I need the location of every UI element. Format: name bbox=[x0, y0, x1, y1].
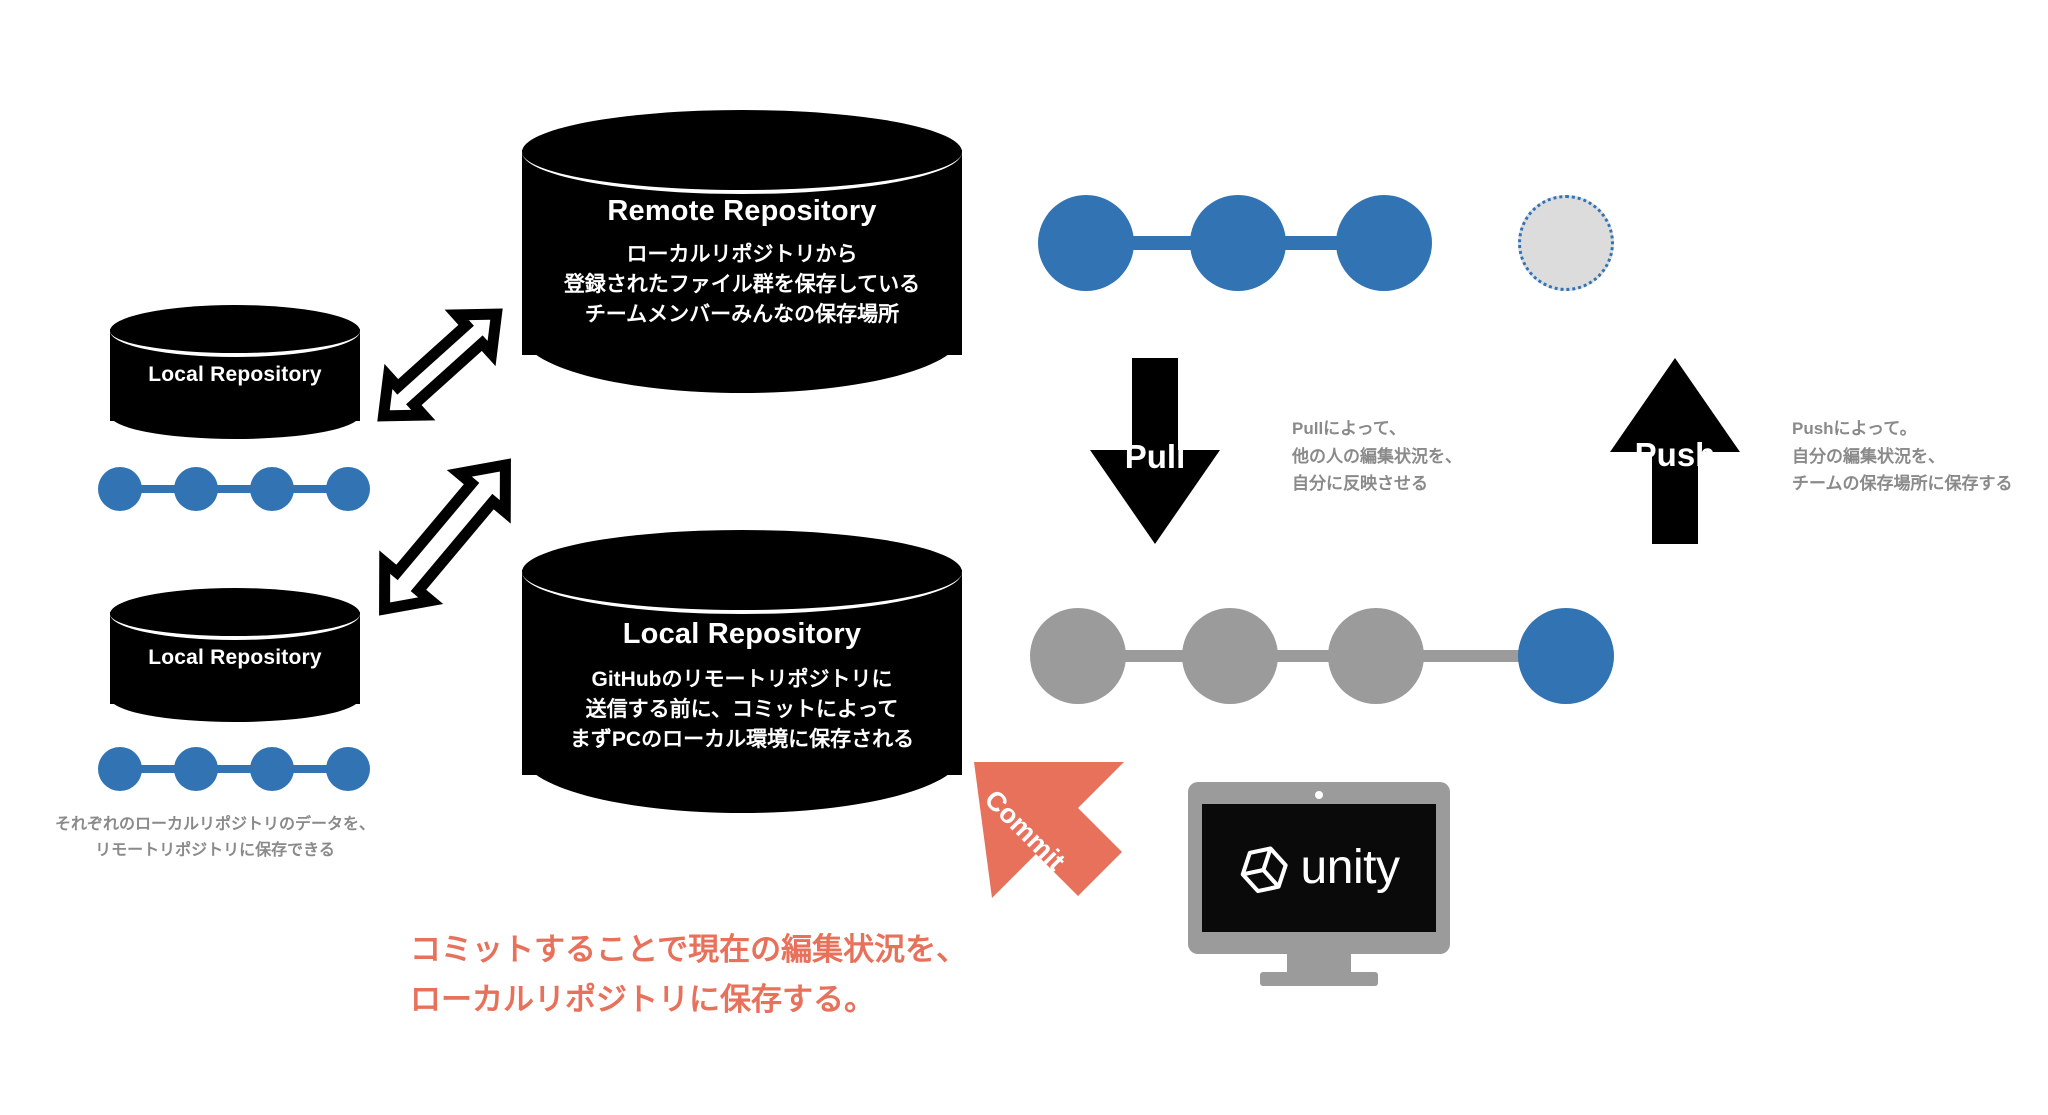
commit-node[interactable] bbox=[250, 467, 294, 511]
cylinder-bottom bbox=[110, 391, 360, 439]
commit-graph-local-row bbox=[1030, 608, 1710, 704]
commit-node[interactable] bbox=[98, 467, 142, 511]
push-caption: Pushによって。 自分の編集状況を、 チームの保存場所に保存する bbox=[1792, 415, 2048, 498]
commit-node[interactable] bbox=[1336, 195, 1432, 291]
commit-node[interactable] bbox=[98, 747, 142, 791]
cylinder-remote-repository: Remote Repository ローカルリポジトリから 登録されたファイル群… bbox=[522, 110, 962, 400]
unity-wordmark: unity bbox=[1301, 844, 1400, 892]
unity-monitor: unity bbox=[1188, 782, 1450, 987]
commit-node[interactable] bbox=[174, 467, 218, 511]
monitor-screen: unity bbox=[1202, 804, 1436, 932]
commit-node[interactable] bbox=[174, 747, 218, 791]
commit-node[interactable] bbox=[1518, 608, 1614, 704]
monitor-camera-icon bbox=[1315, 791, 1323, 799]
commit-node[interactable] bbox=[250, 747, 294, 791]
diagram-canvas: Local Repository Local Repository それぞれのロ… bbox=[0, 0, 2048, 1115]
commit-graph-left-bottom bbox=[98, 748, 370, 790]
cylinder-bottom bbox=[110, 674, 360, 722]
graph-connector-line bbox=[120, 485, 348, 493]
commit-node[interactable] bbox=[1030, 608, 1126, 704]
commit-node[interactable] bbox=[1190, 195, 1286, 291]
commit-headline: コミットすることで現在の編集状況を、 ローカルリポジトリに保存する。 bbox=[410, 925, 1170, 1025]
cylinder-bottom bbox=[522, 695, 962, 813]
commit-graph-left-top bbox=[98, 468, 370, 510]
cylinder-top bbox=[110, 305, 360, 357]
cylinder-local-repo-left-bottom: Local Repository bbox=[110, 588, 360, 728]
commit-node[interactable] bbox=[326, 747, 370, 791]
commit-node[interactable] bbox=[1182, 608, 1278, 704]
left-repos-caption: それぞれのローカルリポジトリのデータを、 リモートリポジトリに保存できる bbox=[20, 812, 410, 864]
commit-node[interactable] bbox=[1328, 608, 1424, 704]
monitor-stand-base bbox=[1260, 972, 1378, 986]
pull-arrow[interactable]: Pull bbox=[1090, 358, 1220, 544]
push-arrow[interactable]: Push bbox=[1610, 358, 1740, 544]
cylinder-top bbox=[110, 588, 360, 640]
graph-connector-line bbox=[120, 765, 348, 773]
monitor-stand-neck bbox=[1287, 954, 1351, 974]
cylinder-top bbox=[522, 110, 962, 194]
double-arrow-bottom bbox=[345, 405, 545, 670]
commit-node[interactable] bbox=[1038, 195, 1134, 291]
cylinder-local-repository-center: Local Repository GitHubのリモートリポジトリに 送信する前… bbox=[522, 530, 962, 820]
pull-caption: Pullによって、 他の人の編集状況を、 自分に反映させる bbox=[1292, 415, 1622, 498]
cylinder-local-repo-left-top: Local Repository bbox=[110, 305, 360, 445]
commit-node-pending[interactable] bbox=[1518, 195, 1614, 291]
commit-arrow[interactable]: Commit bbox=[966, 756, 1146, 914]
cylinder-top bbox=[522, 530, 962, 614]
unity-logo-icon bbox=[1239, 842, 1291, 894]
commit-graph-remote-row bbox=[1038, 195, 1718, 291]
cylinder-bottom bbox=[522, 275, 962, 393]
